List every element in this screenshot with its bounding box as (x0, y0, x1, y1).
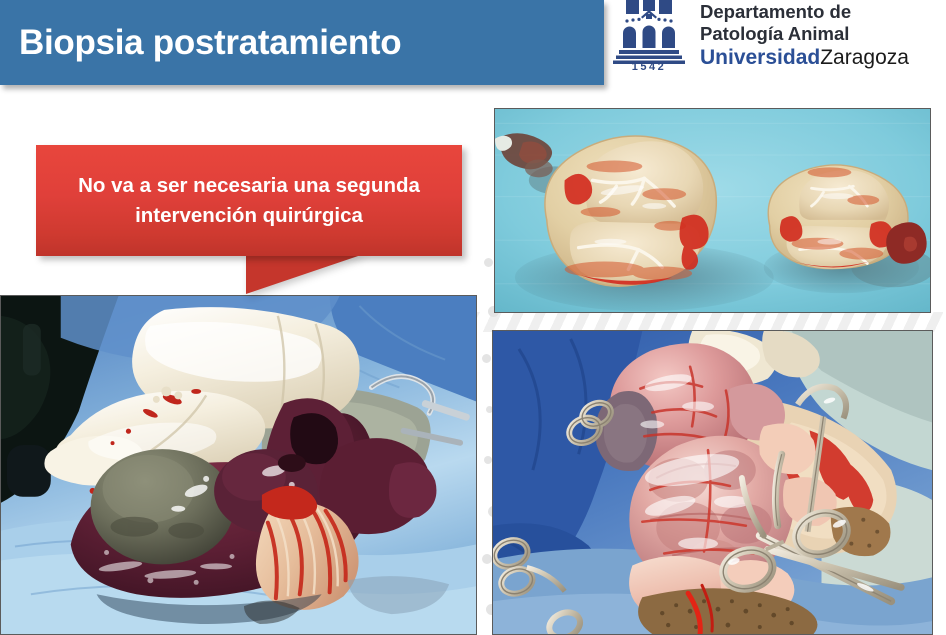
callout-box: No va a ser necesaria una segunda interv… (36, 145, 462, 256)
slide-canvas: Biopsia postratamiento (0, 0, 946, 635)
logo-university-light: Zaragoza (820, 46, 909, 69)
photo-surgery-forceps (492, 330, 933, 635)
logo-department-line-1: Departamento de (700, 1, 909, 23)
crest-icon: 1542 (610, 0, 688, 74)
logo-department-line-2: Patología Animal (700, 23, 909, 45)
logo-university-bold: Universidad (700, 46, 820, 69)
university-logo: 1542 Departamento de Patología Animal Un… (610, 0, 946, 78)
slide-title-band: Biopsia postratamiento (0, 0, 604, 85)
callout-text: No va a ser necesaria una segunda interv… (64, 171, 434, 229)
photo-surgery-hand (0, 295, 477, 635)
logo-wordmark: Departamento de Patología Animal Univers… (688, 0, 909, 72)
logo-university-line: UniversidadZaragoza (700, 45, 909, 71)
crest-year-label: 1542 (610, 61, 688, 73)
decorative-stripe-band (470, 312, 946, 332)
page-title: Biopsia postratamiento (0, 23, 401, 63)
photo-specimens (494, 108, 931, 313)
callout-tail (246, 254, 364, 294)
